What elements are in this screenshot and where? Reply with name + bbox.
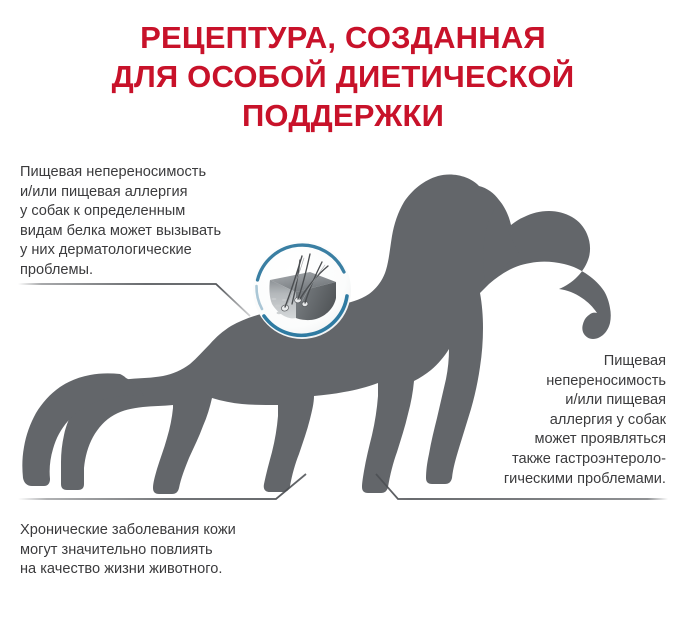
callout-skin-text: Пищевая непереносимость и/или пищевая ал… — [20, 163, 266, 281]
callout-gastro-line-6: также гастроэнтероло- — [406, 450, 666, 470]
page-title: РЕЦЕПТУРА, СОЗДАННАЯ ДЛЯ ОСОБОЙ ДИЕТИЧЕС… — [0, 18, 686, 135]
leader-line-chronic — [14, 472, 314, 504]
page-title-line-1: РЕЦЕПТУРА, СОЗДАННАЯ — [0, 18, 686, 57]
page-title-line-2: ДЛЯ ОСОБОЙ ДИЕТИЧЕСКОЙ — [0, 57, 686, 96]
callout-gastro-line-3: и/или пищевая — [406, 391, 666, 411]
callout-skin-line-5: у них дерматологические — [20, 241, 266, 261]
callout-chronic-line-2: могут значительно повлиять — [20, 541, 310, 561]
callout-gastro-line-7: гическими проблемами. — [406, 470, 666, 490]
callout-chronic-line-1: Хронические заболевания кожи — [20, 521, 310, 541]
callout-gastro-line-4: аллергия у собак — [406, 411, 666, 431]
callout-skin-line-3: у собак к определенным — [20, 202, 266, 222]
callout-skin-line-6: проблемы. — [20, 261, 266, 281]
callout-chronic-text: Хронические заболевания кожи могут значи… — [20, 521, 310, 580]
callout-chronic-line-3: на качество жизни животного. — [20, 560, 310, 580]
infographic-page: РЕЦЕПТУРА, СОЗДАННАЯ ДЛЯ ОСОБОЙ ДИЕТИЧЕС… — [0, 0, 686, 627]
callout-skin-line-4: видам белка может вызывать — [20, 222, 266, 242]
callout-gastro-line-5: может проявляться — [406, 430, 666, 450]
page-title-line-3: ПОДДЕРЖКИ — [0, 96, 686, 135]
callout-skin-line-2: и/или пищевая аллергия — [20, 183, 266, 203]
leader-line-skin — [14, 278, 254, 318]
callout-gastro-line-1: Пищевая — [406, 352, 666, 372]
callout-gastro-text: Пищевая непереносимость и/или пищевая ал… — [406, 352, 666, 489]
callout-gastro-line-2: непереносимость — [406, 372, 666, 392]
callout-skin-line-1: Пищевая непереносимость — [20, 163, 266, 183]
